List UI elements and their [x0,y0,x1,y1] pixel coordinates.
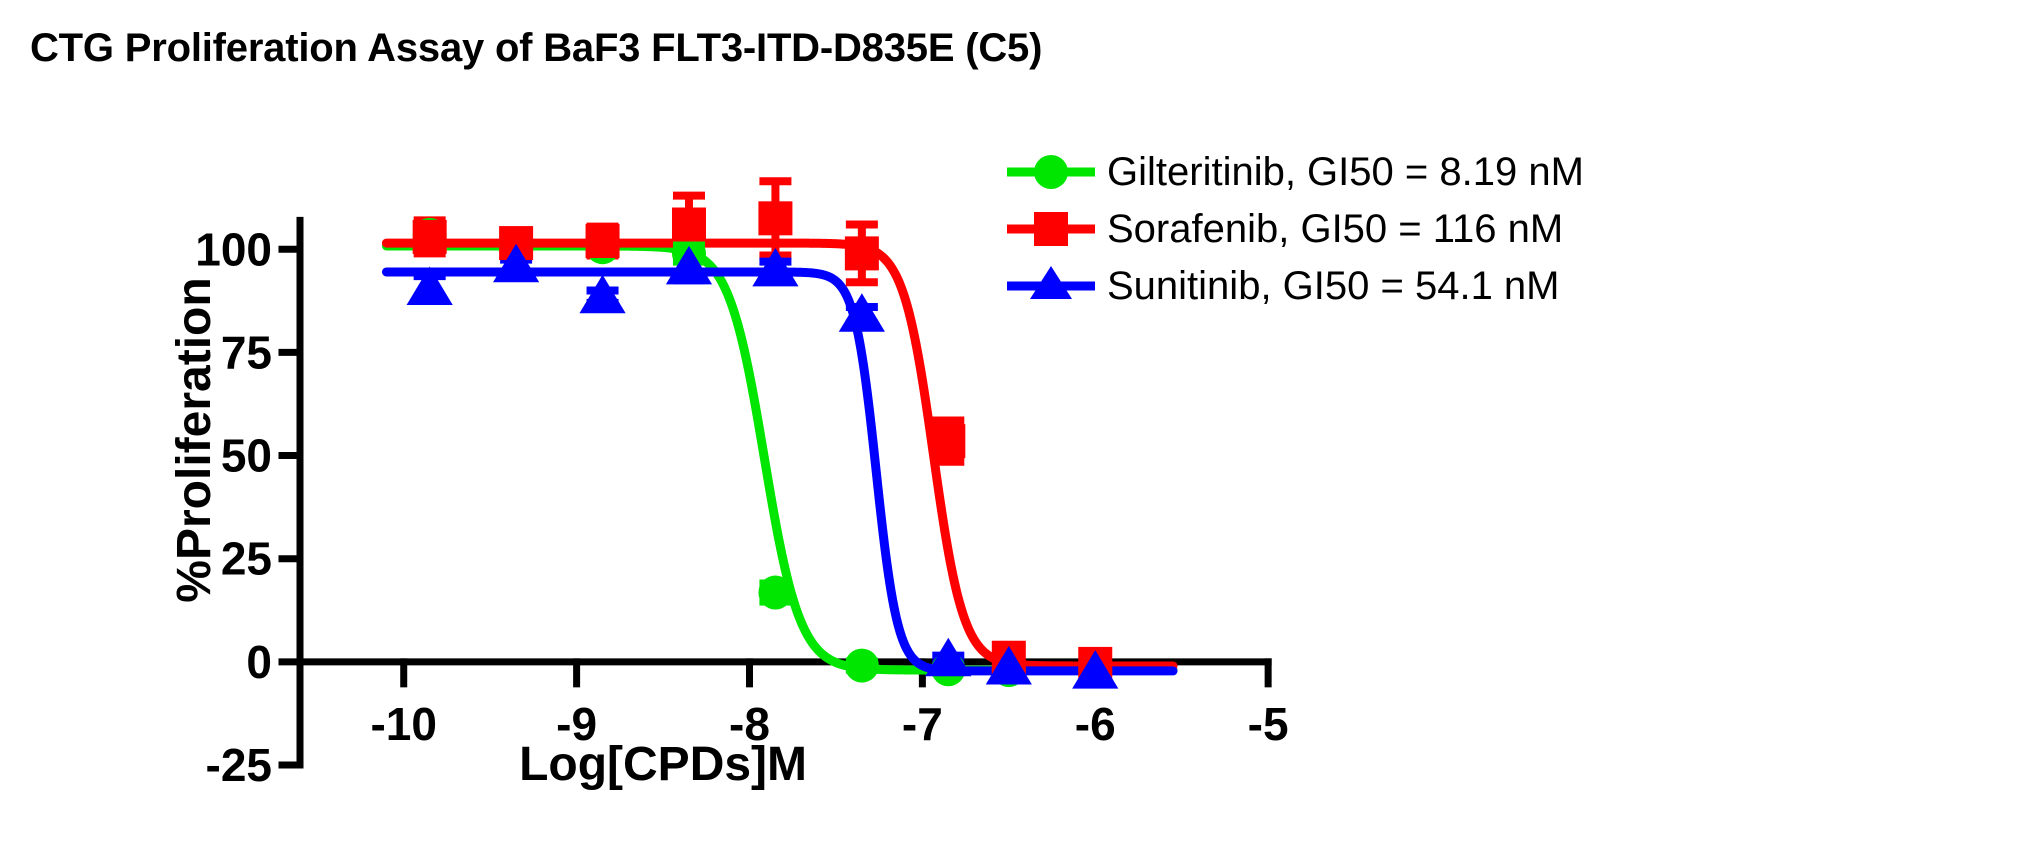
legend-marker-triangle-icon [1005,266,1097,306]
fit-curve-sunitinib [386,272,1173,671]
data-point-sorafenib [672,208,706,242]
data-point-sorafenib [413,220,447,254]
x-tick-label: -7 [902,698,943,750]
data-point-sunitinib [925,638,971,677]
y-tick-label: 50 [221,430,272,482]
y-axis-title: %Proliferation [168,277,221,602]
legend-item-sunitinib[interactable]: Sunitinib, GI50 = 54.1 nM [1005,257,2015,314]
data-point-sorafenib [586,224,620,258]
data-point-sunitinib [752,248,798,287]
x-tick-label: -5 [1248,698,1289,750]
data-point-sorafenib [758,201,792,235]
x-tick-label: -6 [1075,698,1116,750]
y-tick-label: 100 [195,223,272,275]
data-point-sorafenib [931,424,965,458]
legend-item-label: Sorafenib, GI50 = 116 nM [1107,209,1563,249]
data-point-gilteritinib [758,576,792,610]
legend-item-gilteritinib[interactable]: Gilteritinib, GI50 = 8.19 nM [1005,143,2015,200]
chart-root: CTG Proliferation Assay of BaF3 FLT3-ITD… [0,0,2030,849]
y-tick-label: 0 [246,636,272,688]
legend-item-label: Sunitinib, GI50 = 54.1 nM [1107,266,1560,306]
data-point-sorafenib [845,236,879,270]
data-point-gilteritinib [845,649,879,683]
legend: Gilteritinib, GI50 = 8.19 nMSorafenib, G… [1005,143,2015,314]
plot-area: -10-9-8-7-6-5 -250255075100 Log[CPDs]M%P… [0,0,2030,849]
legend-marker-square-icon [1005,209,1097,249]
x-tick-labels: -10-9-8-7-6-5 [370,698,1288,750]
y-tick-label: 75 [221,326,272,378]
x-axis-title: Log[CPDs]M [519,738,807,791]
legend-marker-circle-icon [1005,152,1097,192]
legend-item-sorafenib[interactable]: Sorafenib, GI50 = 116 nM [1005,200,2015,257]
y-tick-label: -25 [206,739,272,791]
data-point-sunitinib [579,275,625,314]
x-tick-label: -10 [370,698,436,750]
y-tick-label: 25 [221,533,272,585]
legend-item-label: Gilteritinib, GI50 = 8.19 nM [1107,152,1584,192]
dose-response-plot: -10-9-8-7-6-5 -250255075100 Log[CPDs]M%P… [0,0,2030,849]
